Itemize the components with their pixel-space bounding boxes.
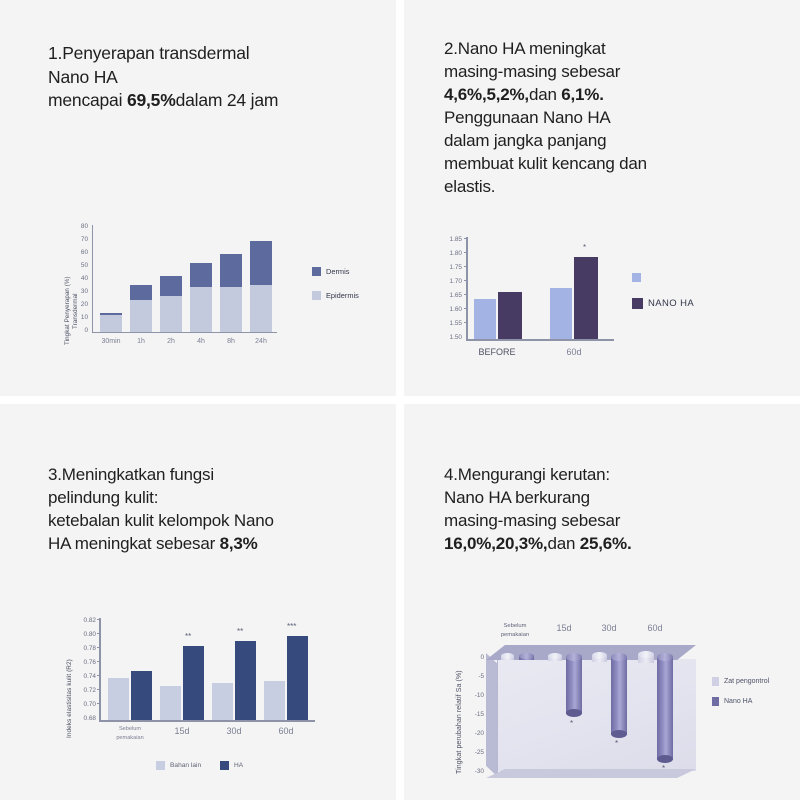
chart-2-ytick: 1.85: [436, 236, 462, 243]
chart-2-ytick: 1.80: [436, 250, 462, 257]
cylinder-cap: [548, 653, 562, 659]
legend-item-control: [632, 273, 646, 282]
chart-2-xtick-60d: 60d: [548, 347, 600, 357]
bar-nanoha-before: [498, 292, 522, 339]
chart-2-ytickmark: [464, 266, 468, 267]
cylinder-cap: [519, 653, 534, 659]
bar-epidermis: [220, 287, 242, 332]
bar-control-60d: [550, 288, 572, 339]
chart-1-xtick: 24h: [244, 338, 278, 345]
headline-line-6: membuat kulit kencang dan: [444, 154, 647, 173]
headline-stat-3: 8,3%: [220, 534, 258, 553]
bar-nanoha-60d: [574, 257, 598, 339]
cylinder-cap: [611, 653, 627, 661]
cylinder-control-60d: [638, 651, 654, 665]
chart-1-x-axis: [92, 332, 277, 333]
chart-4-xtick-15d: 15d: [548, 623, 580, 633]
legend-swatch-epidermis: [312, 291, 321, 300]
chart-1-xtick: 30min: [94, 338, 128, 345]
bar-epidermis: [250, 285, 272, 332]
chart-3-ytickmark: [97, 661, 101, 662]
headline-line-4: Penggunaan Nano HA: [444, 108, 611, 127]
cylinder-cap: [638, 651, 654, 658]
cylinder-control-sebelum: [501, 653, 514, 661]
headline-line-2: Nano HA: [48, 67, 118, 87]
significance-star-15d: **: [185, 632, 191, 641]
chart-3-ytick: 0.80: [72, 631, 96, 638]
headline-line-2: Nano HA berkurang: [444, 488, 590, 507]
cylinder-nanoha-60d: [657, 653, 673, 763]
chart-2-ytickmark: [464, 322, 468, 323]
chart-3-ytickmark: [97, 647, 101, 648]
panel-1-headline: 1.Penyerapan transdermal Nano HA mencapa…: [48, 42, 386, 113]
legend-swatch-bahan-lain: [156, 761, 165, 770]
chart-2-ytick: 1.60: [436, 306, 462, 313]
legend-label-ha: HA: [234, 762, 243, 769]
chart-3-ytick: 0.76: [72, 659, 96, 666]
chart-2-ytick: 1.55: [436, 320, 462, 327]
chart-1-ytick: 0: [74, 327, 88, 334]
legend-swatch-dermis: [312, 267, 321, 276]
bar-ha-60d: [287, 636, 308, 720]
headline-stat-1: 69,5%: [127, 90, 176, 110]
cylinder-control-15d: [548, 653, 562, 662]
bar-bahanlain-60d: [264, 681, 285, 720]
chart-hydration: 1.85 1.80 1.75 1.70 1.65 1.60 1.55 1.50: [436, 233, 800, 368]
chart-1-ytick: 60: [74, 249, 88, 256]
bar-bahanlain-30d: [212, 683, 233, 720]
bar-bahanlain-15d: [160, 686, 181, 720]
headline-stat-2a: 4,6%,5,2%,: [444, 85, 529, 104]
chart-3-ytickmark: [97, 675, 101, 676]
chart-1-ytick: 40: [74, 275, 88, 282]
legend-item-bahan-lain: Bahan lain: [156, 761, 201, 770]
chart-2-ytickmark: [464, 252, 468, 253]
chart-1-ytick: 20: [74, 301, 88, 308]
cylinder-cap: [566, 653, 582, 661]
bar-dermis: [160, 276, 182, 296]
legend-item-nano-ha: Nano HA: [712, 697, 752, 706]
headline-line-3: ketebalan kulit kelompok Nano: [48, 511, 274, 530]
chart-2-ytick: 1.75: [436, 264, 462, 271]
cylinder-nanoha-30d: [611, 653, 627, 738]
panel-2-headline: 2.Nano HA meningkat masing-masing sebesa…: [444, 38, 790, 199]
cylinder-body: [611, 657, 627, 735]
chart-4-ytick: 0: [464, 654, 484, 661]
legend-item-dermis: Dermis: [312, 267, 349, 276]
bar-dermis: [220, 254, 242, 287]
chart-wrinkle: Tingkat perubahan relatif Sa (%) 0 -5 -1…: [444, 609, 800, 789]
headline-line-4a: HA meningkat sebesar: [48, 534, 220, 553]
headline-line-4b: dan: [547, 534, 579, 553]
headline-stat-4b: 25,6%.: [580, 534, 632, 553]
legend-label-epidermis: Epidermis: [326, 291, 359, 300]
bar-dermis: [100, 313, 122, 315]
chart-1-ylabel-line2: Transdermal: [72, 293, 79, 329]
chart-2-ytickmark: [464, 280, 468, 281]
legend-item-ha: HA: [220, 761, 243, 770]
chart-3-ytick: 0.72: [72, 687, 96, 694]
headline-line-1: 3.Meningkatkan fungsi: [48, 465, 214, 484]
significance-star-30d: *: [615, 739, 618, 748]
chart-3-xtick-sebelum-line1: Sebelum: [104, 726, 156, 732]
headline-line-3: masing-masing sebesar: [444, 511, 620, 530]
legend-item-zat-pengontrol: Zat pengontrol: [712, 677, 769, 686]
legend-label-bahan-lain: Bahan lain: [170, 762, 201, 769]
chart-3-xtick-15d: 15d: [156, 726, 208, 736]
chart-3-ytickmark: [97, 689, 101, 690]
headline-line-2: pelindung kulit:: [48, 488, 158, 507]
chart-1-ytick: 10: [74, 314, 88, 321]
bar-ha-sebelum: [131, 671, 152, 720]
chart-2-ytickmark: [464, 294, 468, 295]
legend-item-epidermis: Epidermis: [312, 291, 359, 300]
chart-4-ylabel: Tingkat perubahan relatif Sa (%): [456, 670, 463, 774]
legend-swatch-control: [632, 273, 641, 282]
legend-label-zat-pengontrol: Zat pengontrol: [724, 678, 769, 685]
bar-bahanlain-sebelum: [108, 678, 129, 720]
cylinder-body: [566, 657, 582, 714]
legend-swatch-ha: [220, 761, 229, 770]
bar-epidermis: [130, 300, 152, 332]
headline-line-5: dalam jangka panjang: [444, 131, 606, 150]
panel-wrinkle: 4.Mengurangi kerutan: Nano HA berkurang …: [404, 404, 800, 800]
legend-label-nanoha: NANO HA: [648, 298, 694, 309]
headline-line-1: 1.Penyerapan transdermal: [48, 43, 249, 63]
chart-1-ytick: 50: [74, 262, 88, 269]
legend-label-dermis: Dermis: [326, 267, 349, 276]
bar-ha-30d: [235, 641, 256, 720]
chart-elasticity: Indeks elastisitas kulit (R2) 0.82 0.80 …: [52, 616, 392, 796]
chart-4-ytick: -30: [464, 768, 484, 775]
cylinder-cap: [657, 653, 673, 661]
chart-3-ytickmark: [97, 633, 101, 634]
chart-2-ytickmark: [464, 238, 468, 239]
infographic-board: 1.Penyerapan transdermal Nano HA mencapa…: [0, 0, 800, 800]
bar-epidermis: [190, 287, 212, 332]
chart-3-x-axis: [99, 720, 315, 722]
cylinder-body: [657, 657, 673, 760]
chart-1-xtick: 4h: [184, 338, 218, 345]
headline-line-1: 2.Nano HA meningkat: [444, 39, 606, 58]
chart-4-ytick: -10: [464, 692, 484, 699]
legend-swatch-zat-pengontrol: [712, 677, 719, 686]
significance-star-60d: *: [583, 243, 586, 252]
chart-3-ytick: 0.68: [72, 715, 96, 722]
chart-1-ytick: 30: [74, 288, 88, 295]
chart-1-ytick: 80: [74, 223, 88, 230]
chart-1-xtick: 8h: [214, 338, 248, 345]
chart-4-ytick: -15: [464, 711, 484, 718]
chart-2-ytick: 1.50: [436, 334, 462, 341]
chart-3-ylabel: Indeks elastisitas kulit (R2): [66, 659, 73, 738]
panel-hydration: 2.Nano HA meningkat masing-masing sebesa…: [404, 0, 800, 396]
chart-3-ytickmark: [97, 703, 101, 704]
bar-dermis: [190, 263, 212, 287]
chart-4-xtick-sebelum-line1: Sebelum: [489, 623, 541, 629]
chart-3-xtick-sebelum-line2: pemakaian: [104, 735, 156, 741]
chart-3-ytick: 0.82: [72, 617, 96, 624]
headline-line-3c: dan: [529, 85, 561, 104]
cylinder-cap: [501, 653, 514, 659]
legend-swatch-nanoha: [632, 298, 643, 309]
significance-star-60d: ***: [287, 622, 296, 631]
chart-3-ytick: 0.78: [72, 645, 96, 652]
chart-2-ytickmark: [464, 308, 468, 309]
chart-4-ytick: -5: [464, 673, 484, 680]
cylinder-control-30d: [592, 652, 607, 664]
cylinder-nanoha-15d: [566, 653, 582, 717]
chart-1-ytick: 70: [74, 236, 88, 243]
chart-4-ytick: -25: [464, 749, 484, 756]
headline-line-7: elastis.: [444, 177, 495, 196]
cylinder-bottom: [611, 730, 627, 738]
chart-3-ytickmark: [97, 619, 101, 620]
chart-2-xtick-before: BEFORE: [468, 347, 526, 357]
panel-elasticity: 3.Meningkatkan fungsi pelindung kulit: k…: [0, 404, 396, 800]
cylinder-cap: [592, 652, 607, 659]
headline-line-3c: dalam 24 jam: [176, 90, 279, 110]
chart-2-x-axis: [466, 339, 614, 341]
headline-stat-2b: 6,1%.: [561, 85, 603, 104]
chart-1-xtick: 2h: [154, 338, 188, 345]
legend-label-nano-ha: Nano HA: [724, 698, 752, 705]
chart-3-ytick: 0.70: [72, 701, 96, 708]
chart-absorption: Tingkat Penyerapan (%) Transdermal 80 70…: [52, 225, 392, 370]
chart-3-xtick-60d: 60d: [260, 726, 312, 736]
headline-line-2: masing-masing sebesar: [444, 62, 620, 81]
chart-4-xtick-sebelum-line2: pemakaian: [489, 632, 541, 638]
headline-line-1: 4.Mengurangi kerutan:: [444, 465, 610, 484]
bar-control-before: [474, 299, 496, 339]
headline-stat-4a: 16,0%,20,3%,: [444, 534, 547, 553]
significance-star-15d: *: [570, 719, 573, 728]
cylinder-bottom: [566, 709, 582, 717]
bar-dermis: [250, 241, 272, 285]
bar-ha-15d: [183, 646, 204, 720]
headline-line-3a: mencapai: [48, 90, 127, 110]
legend-swatch-nano-ha: [712, 697, 719, 706]
bar-epidermis: [160, 296, 182, 332]
panel-4-headline: 4.Mengurangi kerutan: Nano HA berkurang …: [444, 464, 790, 556]
chart-1-xtick: 1h: [124, 338, 158, 345]
chart-4-xtick-60d: 60d: [638, 623, 672, 633]
panel-3-headline: 3.Meningkatkan fungsi pelindung kulit: k…: [48, 464, 386, 556]
panel-absorption: 1.Penyerapan transdermal Nano HA mencapa…: [0, 0, 396, 396]
bar-dermis: [130, 285, 152, 300]
cylinder-bottom: [657, 755, 673, 763]
chart-3-xtick-30d: 30d: [208, 726, 260, 736]
chart-4-xtick-30d: 30d: [592, 623, 626, 633]
cylinder-nanoha-sebelum: [519, 653, 534, 662]
chart-2-ytick: 1.65: [436, 292, 462, 299]
chart-3-ytick: 0.74: [72, 673, 96, 680]
chart-1-y-axis: [92, 225, 93, 333]
significance-star-30d: **: [237, 627, 243, 636]
chart-4-ytick: -20: [464, 730, 484, 737]
chart-2-ytick: 1.70: [436, 278, 462, 285]
significance-star-60d: *: [662, 764, 665, 773]
legend-item-nanoha: NANO HA: [632, 298, 694, 309]
chart-1-ylabel-line1: Tingkat Penyerapan (%): [64, 276, 71, 345]
bar-epidermis: [100, 315, 122, 332]
